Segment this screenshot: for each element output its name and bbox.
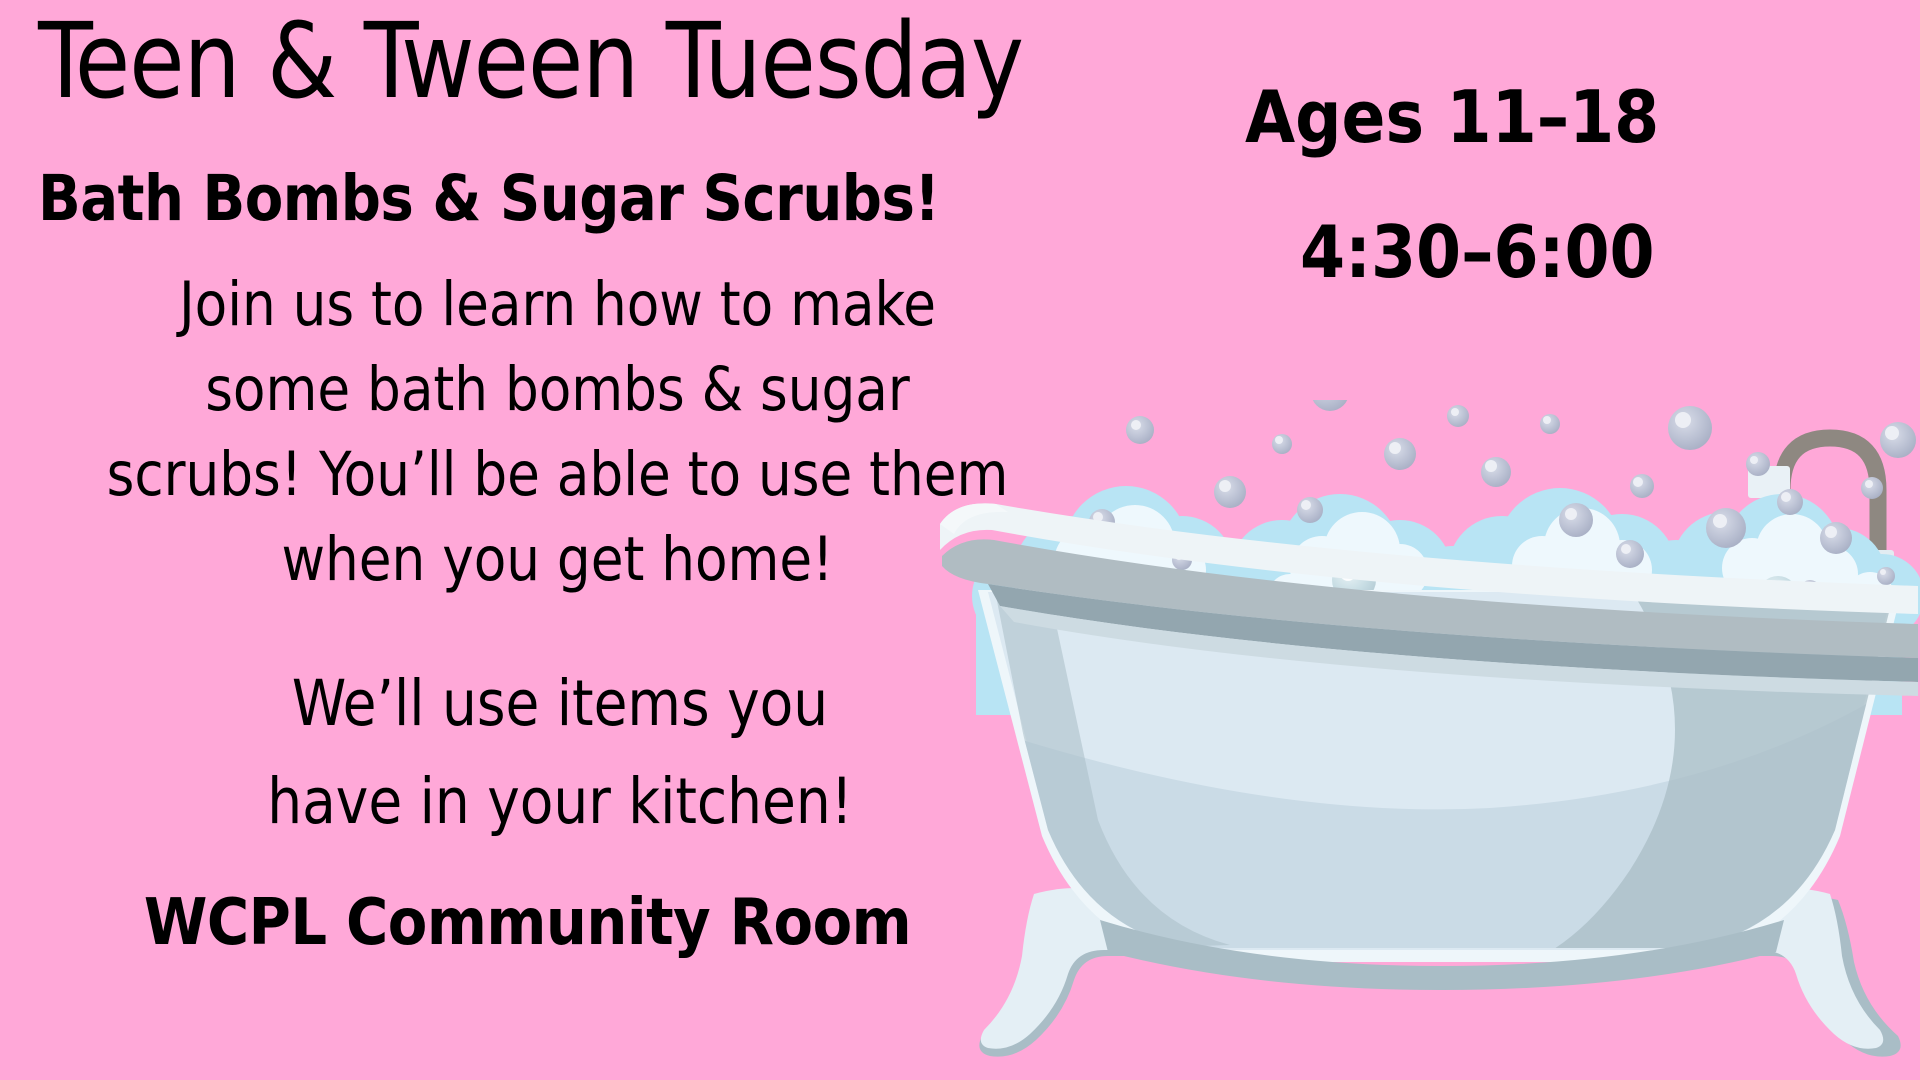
- page-subtitle: Bath Bombs & Sugar Scrubs!: [38, 162, 1087, 235]
- description-line: Join us to learn how to make: [36, 262, 1079, 347]
- time-label: 4:30–6:00: [1300, 210, 1655, 294]
- flyer-canvas: Teen & Tween Tuesday Bath Bombs & Sugar …: [0, 0, 1920, 1080]
- kitchen-note-line: We’ll use items you: [94, 655, 1025, 753]
- kitchen-note: We’ll use items you have in your kitchen…: [80, 655, 1040, 851]
- page-title: Teen & Tween Tuesday: [38, 6, 1056, 116]
- description-line: when you get home!: [36, 517, 1079, 602]
- bathtub-icon: [930, 400, 1920, 1080]
- description-line: scrubs! You’ll be able to use them: [36, 432, 1079, 517]
- kitchen-note-line: have in your kitchen!: [94, 753, 1025, 851]
- ages-label: Ages 11–18: [1245, 75, 1659, 159]
- description-line: some bath bombs & sugar: [36, 347, 1079, 432]
- location-label: WCPL Community Room: [0, 886, 1055, 960]
- bathtub-illustration: [930, 400, 1920, 1080]
